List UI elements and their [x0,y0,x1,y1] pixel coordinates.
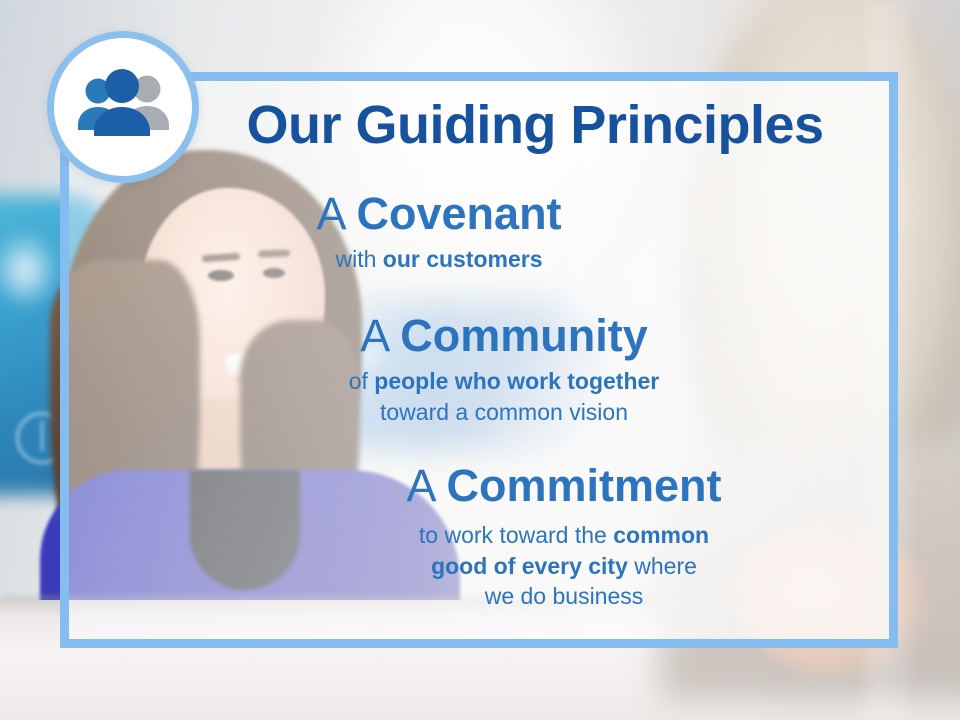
principle-heading: A Commitment [230,462,898,510]
subtext-run: where [628,553,697,579]
principle-keyword: Covenant [357,188,562,239]
principle-block-commitment: A Commitment to work toward the commongo… [60,462,898,612]
principle-heading: A Community [110,312,898,360]
text-content: Our Guiding Principles A Covenant with o… [60,72,898,648]
principle-keyword: Community [400,310,648,361]
principle-block-community: A Community of people who work togethert… [60,312,898,427]
subtext-line: good of every city where [230,551,898,582]
subtext-run: we do business [485,583,644,609]
principle-subtext: with our customers [60,244,818,275]
subtext-line: with our customers [60,244,818,275]
guiding-principles-graphic: FLOW FLOW [0,0,960,720]
principle-keyword: Commitment [447,460,722,511]
subtext-line: we do business [230,581,898,612]
principle-article: A [316,188,344,239]
subtext-line: toward a common vision [110,397,898,428]
subtext-run: with [335,246,382,272]
subtext-run: to work toward the [419,522,613,548]
subtext-run: toward a common vision [380,399,628,425]
principle-subtext: of people who work togethertoward a comm… [110,366,898,428]
subtext-emphasis: our customers [383,246,543,272]
subtext-run: of [349,368,375,394]
subtext-emphasis: people who work together [374,368,659,394]
principle-block-covenant: A Covenant with our customers [60,190,898,275]
page-title: Our Guiding Principles [60,98,880,152]
principle-heading: A Covenant [60,190,818,238]
subtext-line: to work toward the common [230,520,898,551]
principle-article: A [406,460,434,511]
subtext-line: of people who work together [110,366,898,397]
principle-article: A [360,310,388,361]
subtext-emphasis: common [613,522,709,548]
subtext-emphasis: good of every city [431,553,628,579]
principle-subtext: to work toward the commongood of every c… [230,520,898,612]
